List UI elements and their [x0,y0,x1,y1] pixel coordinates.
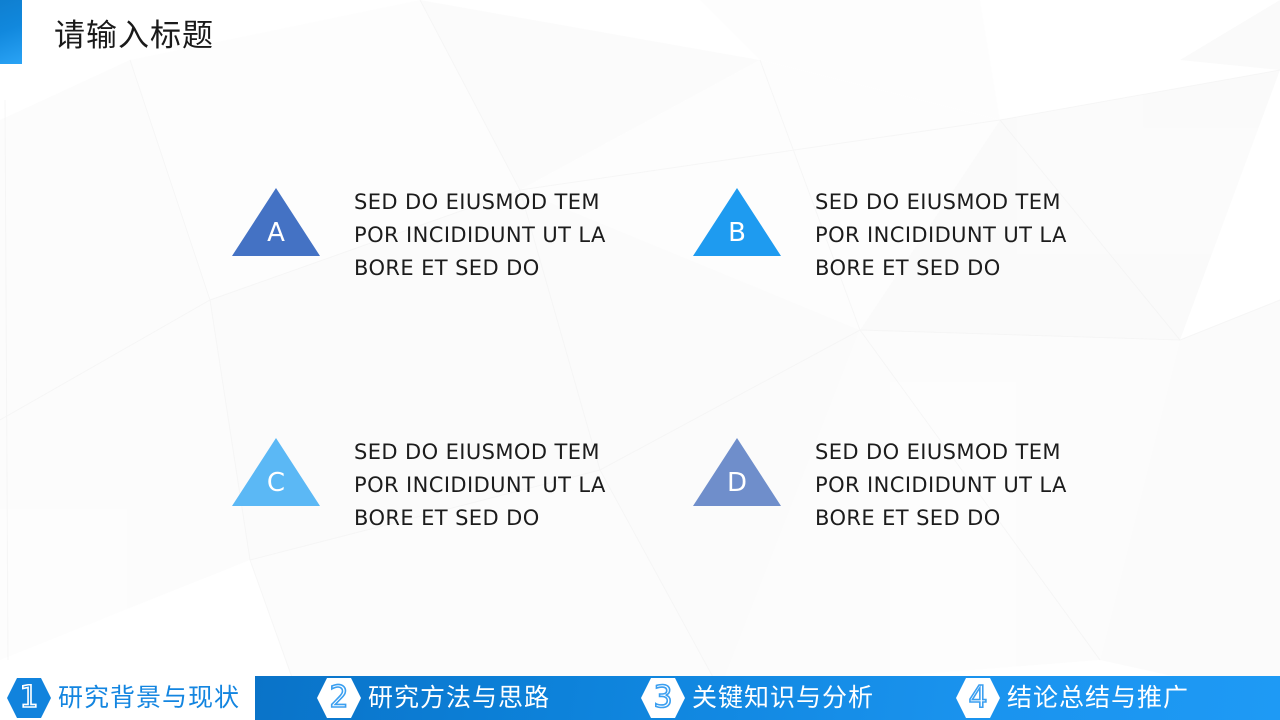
nav-number-1: 1 [6,682,52,714]
triangle-marker-b: B [691,186,783,258]
background-polygon-texture [0,0,1280,720]
nav-item-3[interactable]: 3 关键知识与分析 [640,676,874,720]
hexagon-badge-icon: 3 [640,677,686,719]
nav-label-1: 研究背景与现状 [58,683,240,713]
content-item-a[interactable]: A SED DO EIUSMOD TEMPOR INCIDIDUNT UT LA… [230,186,606,285]
content-item-c[interactable]: C SED DO EIUSMOD TEMPOR INCIDIDUNT UT LA… [230,436,606,535]
hexagon-badge-icon: 4 [955,677,1001,719]
triangle-marker-d: D [691,436,783,508]
slide-canvas: 请输入标题 A SED DO EIUSMOD TEMPOR INCIDIDUNT… [0,0,1280,720]
section-nav-bar: 1 研究背景与现状 2 研究方法与思路 3 关键知识与分析 4 结论总结与推广 [0,676,1280,720]
triangle-letter-d: D [691,470,783,496]
nav-label-3: 关键知识与分析 [692,683,874,713]
nav-number-4: 4 [955,682,1001,714]
item-text-b: SED DO EIUSMOD TEMPOR INCIDIDUNT UT LABO… [815,186,1067,285]
nav-label-4: 结论总结与推广 [1007,683,1189,713]
nav-label-2: 研究方法与思路 [368,683,550,713]
triangle-letter-b: B [691,220,783,246]
title-accent-bar [0,0,22,64]
nav-item-2[interactable]: 2 研究方法与思路 [316,676,550,720]
item-text-a: SED DO EIUSMOD TEMPOR INCIDIDUNT UT LABO… [354,186,606,285]
nav-item-4[interactable]: 4 结论总结与推广 [955,676,1189,720]
content-item-b[interactable]: B SED DO EIUSMOD TEMPOR INCIDIDUNT UT LA… [691,186,1067,285]
content-item-d[interactable]: D SED DO EIUSMOD TEMPOR INCIDIDUNT UT LA… [691,436,1067,535]
triangle-letter-c: C [230,470,322,496]
page-title: 请输入标题 [54,14,214,58]
nav-number-3: 3 [640,682,686,714]
item-text-c: SED DO EIUSMOD TEMPOR INCIDIDUNT UT LABO… [354,436,606,535]
hexagon-badge-icon: 2 [316,677,362,719]
triangle-marker-c: C [230,436,322,508]
hexagon-badge-icon: 1 [6,677,52,719]
nav-item-1[interactable]: 1 研究背景与现状 [6,676,240,720]
triangle-marker-a: A [230,186,322,258]
item-text-d: SED DO EIUSMOD TEMPOR INCIDIDUNT UT LABO… [815,436,1067,535]
triangle-letter-a: A [230,220,322,246]
nav-number-2: 2 [316,682,362,714]
